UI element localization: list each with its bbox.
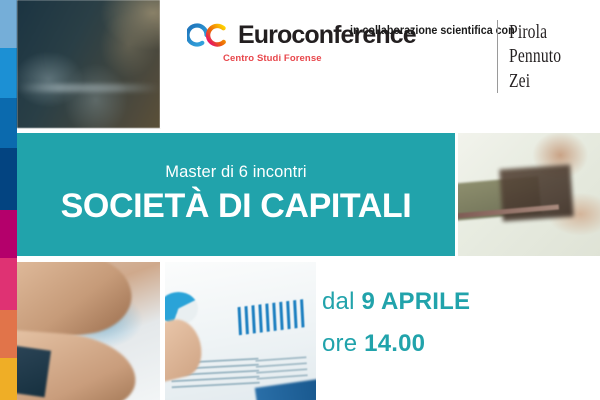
text-lines-shape-right xyxy=(255,354,308,380)
promo-banner: Euroconference Centro Studi Forense in c… xyxy=(0,0,600,400)
hands-holding-tablet-photo xyxy=(458,133,600,256)
start-date-line: dal 9 APRILE xyxy=(322,288,572,316)
start-time-line: ore 14.00 xyxy=(322,330,572,358)
hands-pointing-at-report-photo xyxy=(17,262,160,400)
strip-band-7 xyxy=(0,358,17,400)
time-value: 14.00 xyxy=(364,330,425,357)
brand-subtitle: Centro Studi Forense xyxy=(223,53,416,64)
date-value: 9 APRILE xyxy=(362,288,471,315)
strip-band-2 xyxy=(0,98,17,148)
date-prefix: dal xyxy=(322,288,362,315)
strip-band-6 xyxy=(0,310,17,358)
partner-line-2: Pennuto xyxy=(509,44,561,68)
strip-band-3 xyxy=(0,148,17,210)
partner-line-1: Pirola xyxy=(509,20,561,44)
bar-chart-shape xyxy=(237,299,307,335)
finger-on-business-chart-photo xyxy=(165,262,316,400)
banner-kicker: Master di 6 incontri xyxy=(165,163,306,182)
left-color-strip xyxy=(0,0,17,400)
time-prefix: ore xyxy=(322,330,364,357)
strip-band-0 xyxy=(0,0,17,48)
title-banner: Master di 6 incontri SOCIETÀ DI CAPITALI xyxy=(17,133,455,256)
collaboration-label: in collaborazione scientifica con xyxy=(350,25,515,37)
strip-band-5 xyxy=(0,258,17,310)
dark-abstract-photo xyxy=(17,0,160,128)
header: Euroconference Centro Studi Forense in c… xyxy=(160,0,600,128)
banner-title: SOCIETÀ DI CAPITALI xyxy=(61,187,412,226)
partner-logo-pirola-pennuto-zei[interactable]: Pirola Pennuto Zei xyxy=(497,20,576,93)
line-graph-shape xyxy=(213,279,292,301)
schedule-block: dal 9 APRILE ore 14.00 xyxy=(322,288,572,358)
strip-band-1 xyxy=(0,48,17,98)
strip-band-4 xyxy=(0,210,17,258)
tablet-edge-shape xyxy=(254,379,316,400)
ec-monogram-icon xyxy=(187,20,231,50)
partner-line-3: Zei xyxy=(509,69,561,93)
